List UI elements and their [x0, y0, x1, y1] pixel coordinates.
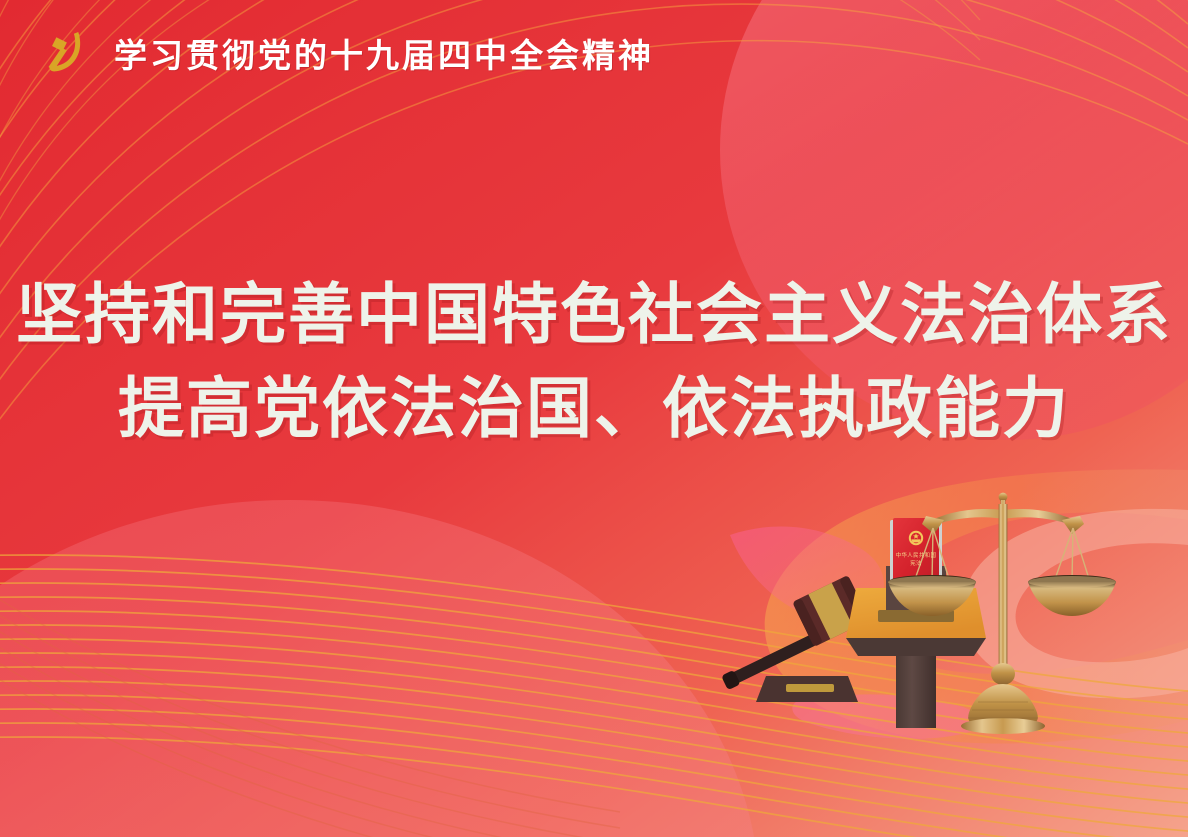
scales-chain-right	[1054, 528, 1090, 582]
podium-column	[896, 648, 936, 728]
headline-block: 坚持和完善中国特色社会主义法治体系 提高党依法治国、依法执政能力	[0, 268, 1188, 455]
gavel-sound-block-inlay	[786, 684, 834, 692]
header-title: 学习贯彻党的十九届四中全会精神	[114, 29, 654, 77]
podium-group	[846, 518, 986, 728]
law-illustration: 中华人民共和国 宪法	[700, 470, 1188, 837]
scales-base-foot	[961, 718, 1045, 734]
constitution-book-title: 中华人民共和国 宪法	[886, 552, 946, 569]
constitution-book-title-line2: 宪法	[886, 560, 946, 568]
party-emblem-icon	[38, 25, 94, 81]
constitution-book-title-line1: 中华人民共和国	[886, 552, 946, 560]
poster-canvas: 学习贯彻党的十九届四中全会精神 坚持和完善中国特色社会主义法治体系 提高党依法治…	[0, 0, 1188, 837]
law-illustration-svg	[700, 470, 1188, 837]
national-emblem-icon	[909, 531, 923, 545]
scales-knob	[991, 663, 1015, 685]
poster-header: 学习贯彻党的十九届四中全会精神	[0, 0, 1188, 105]
scales-pan-right	[1028, 575, 1116, 616]
podium-top-underside	[846, 638, 986, 656]
headline-line-1: 坚持和完善中国特色社会主义法治体系	[0, 268, 1188, 362]
headline-line-2: 提高党依法治国、依法执政能力	[0, 362, 1188, 456]
scales-column	[999, 504, 1008, 674]
